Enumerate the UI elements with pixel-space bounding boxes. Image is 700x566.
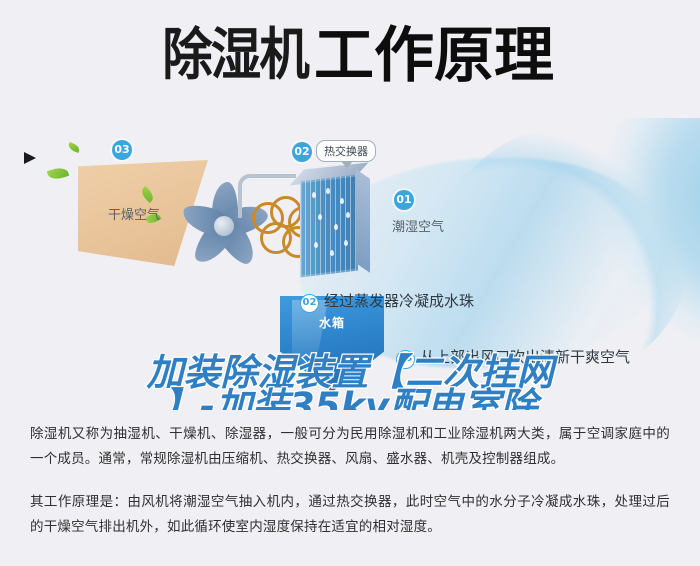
- water-tank-label: 水箱: [280, 314, 384, 331]
- marker-humid-air: 01: [394, 190, 414, 210]
- leaf-icon: [67, 142, 81, 153]
- heat-exchanger-callout: 热交换器: [316, 140, 376, 162]
- overlay-headline: 加装除湿装置【二次挂网 】-加装35kv配电室除 湿装置预中标结果: [58, 356, 642, 410]
- step-number-02: 02: [300, 294, 319, 313]
- step-text-02: 经过蒸发器冷凝成水珠: [324, 292, 474, 310]
- marker-dry-air: 03: [112, 140, 132, 160]
- illustration-stage: 水箱 03 02 01 热交换器 干燥空气 潮湿空气 02经过蒸发器冷凝成水珠 …: [0, 118, 700, 410]
- article-body: 除湿机又称为抽湿机、干燥机、除湿器，一般可分为民用除湿机和工业除湿机两大类，属于…: [0, 410, 700, 566]
- overlay-headline-line-2: 】-加装35kv配电室除: [58, 390, 642, 410]
- humid-air-label: 潮湿空气: [392, 216, 444, 235]
- header-band: 除湿机工作原理: [0, 0, 700, 118]
- page-title-part-one: 除湿机: [162, 28, 308, 84]
- airflow-arrow-icon: [24, 152, 36, 164]
- infographic-page: 除湿机工作原理 水箱: [0, 0, 700, 566]
- page-title: 除湿机工作原理: [0, 26, 700, 86]
- article-paragraph-2: 其工作原理是：由风机将潮湿空气抽入机内，通过热交换器，此时空气中的水分子冷凝成水…: [30, 490, 670, 540]
- article-paragraph-1: 除湿机又称为抽湿机、干燥机、除湿器，一般可分为民用除湿机和工业除湿机两大类，属于…: [30, 422, 670, 472]
- marker-heat-exchanger: 02: [292, 142, 312, 162]
- heat-exchanger-side-icon: [356, 169, 370, 272]
- page-title-part-two: 工作原理: [314, 26, 554, 86]
- step-caption-02: 02经过蒸发器冷凝成水珠: [300, 290, 474, 313]
- condensation-droplets-icon: [306, 184, 358, 272]
- leaf-icon: [47, 165, 69, 182]
- dry-air-label: 干燥空气: [108, 204, 160, 223]
- fan-hub-icon: [214, 216, 234, 236]
